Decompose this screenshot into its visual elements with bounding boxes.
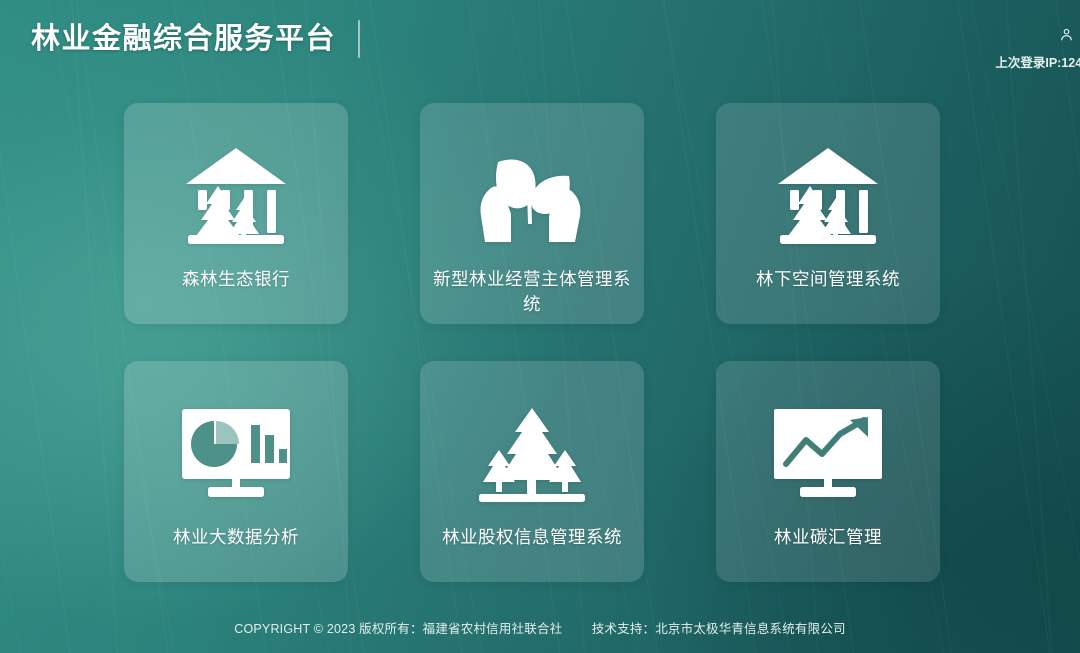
monitor-trend-icon [772, 397, 884, 515]
bank-with-tree-icon [774, 139, 882, 257]
module-card-forest-eco-bank[interactable]: 森林生态银行 [124, 103, 348, 324]
module-grid: 森林生态银行 新型林业经营主 [124, 103, 940, 582]
hands-holding-leaves-icon [477, 139, 587, 257]
module-card-new-forestry-entity-management[interactable]: 新型林业经营主体管理系统 [420, 103, 644, 324]
module-card-label: 林业股权信息管理系统 [432, 525, 632, 550]
last-login-ip: 上次登录IP:124.72.2 [995, 52, 1080, 71]
user-icon [1059, 27, 1074, 42]
module-card-forestry-equity-information-management[interactable]: 林业股权信息管理系统 [420, 361, 644, 582]
footer-copyright: COPYRIGHT © 2023 版权所有：福建省农村信用社联合社 [234, 622, 562, 636]
module-card-forestry-big-data-analysis[interactable]: 林业大数据分析 [124, 361, 348, 582]
header-divider [358, 20, 360, 58]
module-card-label: 新型林业经营主体管理系统 [432, 267, 632, 318]
module-card-understory-space-management[interactable]: 林下空间管理系统 [716, 103, 940, 324]
page-footer: COPYRIGHT © 2023 版权所有：福建省农村信用社联合社 技术支持：北… [0, 618, 1080, 637]
pine-trees-icon [477, 397, 587, 515]
bank-with-tree-icon [182, 139, 290, 257]
page-title: 林业金融综合服务平台 [31, 25, 336, 54]
module-card-label: 林业大数据分析 [136, 525, 336, 550]
module-card-label: 林下空间管理系统 [728, 267, 928, 292]
module-card-label: 林业碳汇管理 [728, 525, 928, 550]
app-root: 林业金融综合服务平台 福 上次登录IP:124.72.2 [0, 0, 1080, 653]
module-card-forestry-carbon-sink-management[interactable]: 林业碳汇管理 [716, 361, 940, 582]
user-area: 福 上次登录IP:124.72.2 [995, 24, 1080, 71]
page-header: 林业金融综合服务平台 福 上次登录IP:124.72.2 [0, 0, 1080, 88]
module-card-label: 森林生态银行 [136, 267, 336, 292]
brand: 林业金融综合服务平台 [31, 20, 360, 58]
user-profile[interactable]: 福 [995, 24, 1080, 44]
monitor-charts-icon [180, 397, 292, 515]
footer-support: 技术支持：北京市太极华青信息系统有限公司 [592, 622, 846, 636]
